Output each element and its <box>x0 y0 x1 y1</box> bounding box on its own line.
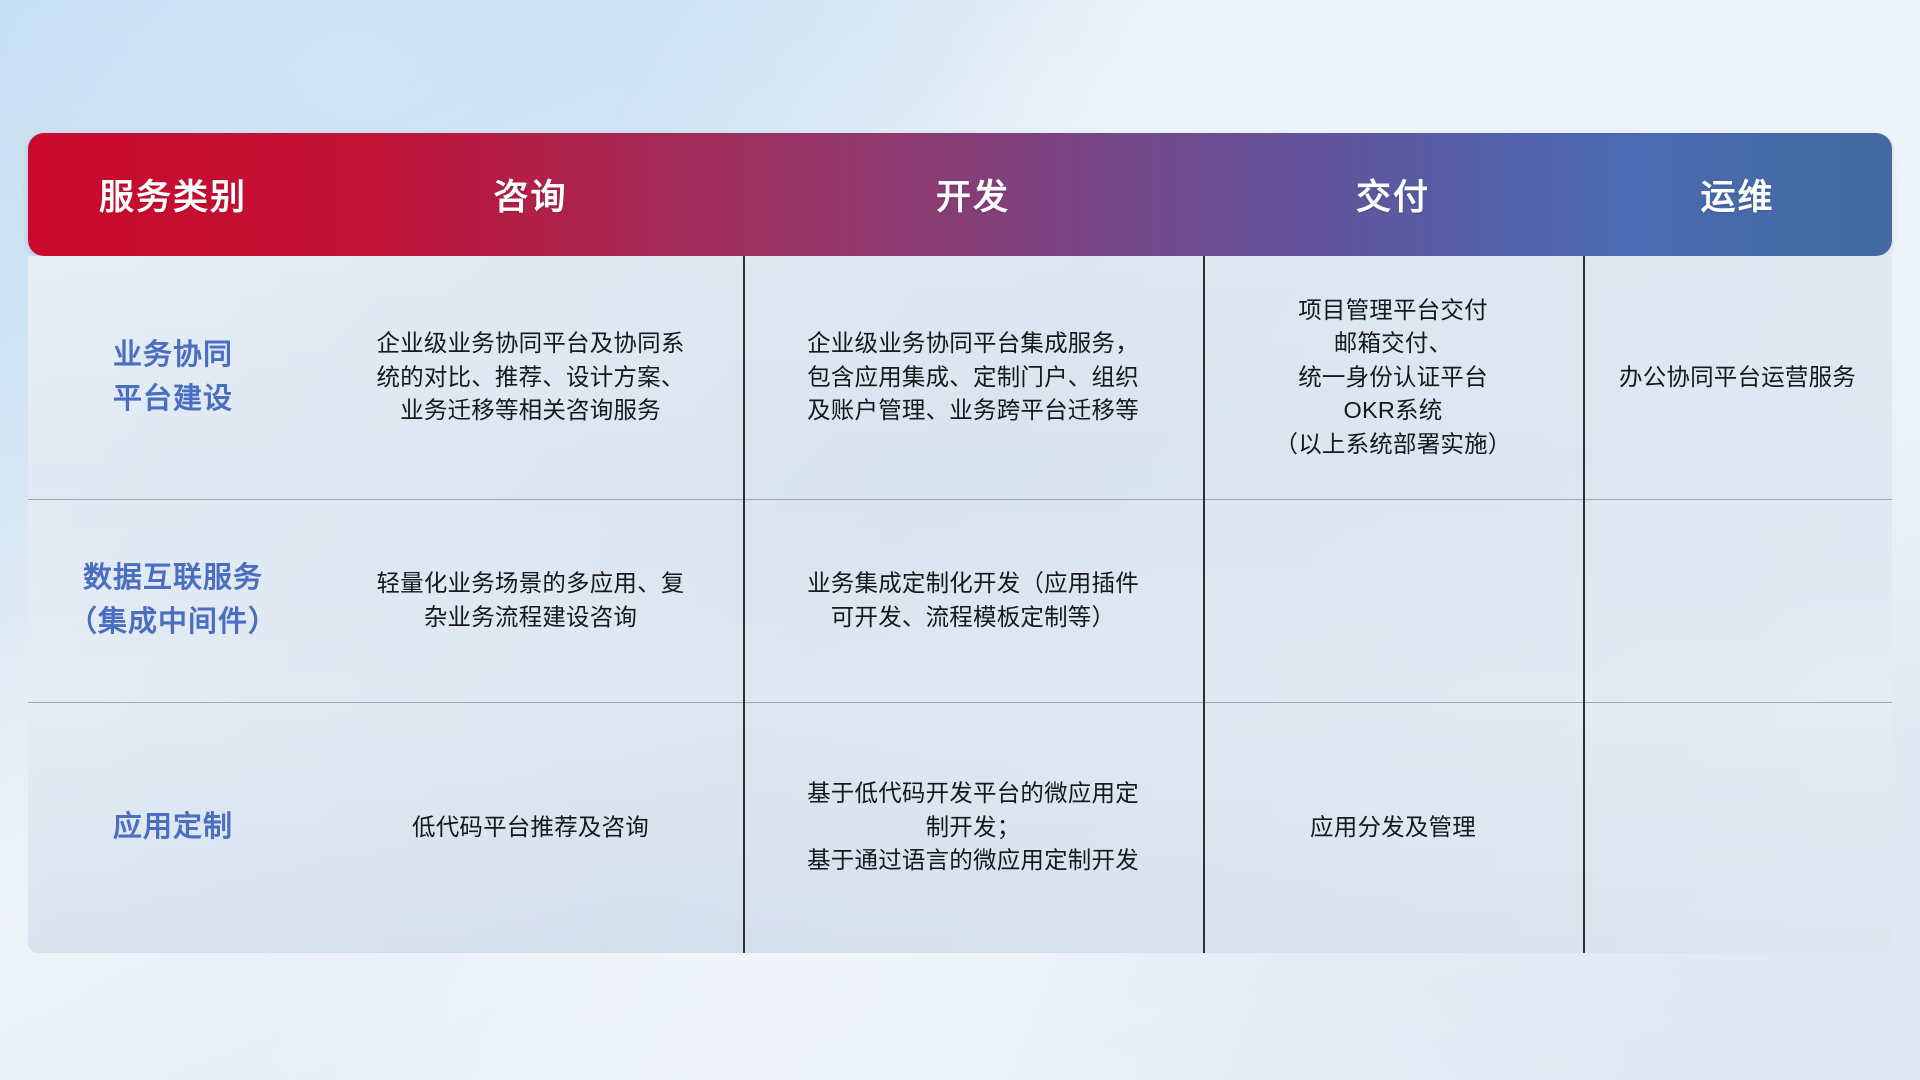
header-delivery: 交付 <box>1203 133 1583 256</box>
header-operations-label: 运维 <box>1700 169 1774 220</box>
table-row: 业务协同 平台建设 企业级业务协同平台及协同系 统的对比、推荐、设计方案、 业务… <box>28 256 1892 499</box>
header-service-category: 服务类别 <box>28 133 318 256</box>
row-category-label: 数据互联服务 （集成中间件） <box>68 557 278 644</box>
row-development-text: 业务集成定制化开发（应用插件 可开发、流程模板定制等） <box>807 567 1139 634</box>
row-development-cell: 业务集成定制化开发（应用插件 可开发、流程模板定制等） <box>743 499 1203 702</box>
row-consulting-cell: 企业级业务协同平台及协同系 统的对比、推荐、设计方案、 业务迁移等相关咨询服务 <box>318 256 743 499</box>
header-operations: 运维 <box>1583 133 1892 256</box>
header-development: 开发 <box>743 133 1203 256</box>
row-delivery-cell: 项目管理平台交付 邮箱交付、 统一身份认证平台 OKR系统 （以上系统部署实施） <box>1203 256 1583 499</box>
row-delivery-cell <box>1203 499 1583 702</box>
row-category-label: 应用定制 <box>113 806 233 850</box>
table-body: 业务协同 平台建设 企业级业务协同平台及协同系 统的对比、推荐、设计方案、 业务… <box>28 256 1892 953</box>
row-consulting-cell: 低代码平台推荐及咨询 <box>318 702 743 953</box>
table-header-row: 服务类别 咨询 开发 交付 运维 <box>28 133 1892 256</box>
row-development-text: 基于低代码开发平台的微应用定 制开发； 基于通过语言的微应用定制开发 <box>807 777 1139 877</box>
table-row: 数据互联服务 （集成中间件） 轻量化业务场景的多应用、复 杂业务流程建设咨询 业… <box>28 499 1892 702</box>
row-operations-cell <box>1583 499 1892 702</box>
row-consulting-text: 企业级业务协同平台及协同系 统的对比、推荐、设计方案、 业务迁移等相关咨询服务 <box>376 327 684 427</box>
row-development-cell: 企业级业务协同平台集成服务， 包含应用集成、定制门户、组织 及账户管理、业务跨平… <box>743 256 1203 499</box>
table-row: 应用定制 低代码平台推荐及咨询 基于低代码开发平台的微应用定 制开发； 基于通过… <box>28 702 1892 953</box>
slide-background: 服务类别 咨询 开发 交付 运维 业务协同 平台建设 <box>0 0 1920 1080</box>
row-category-cell: 应用定制 <box>28 702 318 953</box>
row-development-text: 企业级业务协同平台集成服务， 包含应用集成、定制门户、组织 及账户管理、业务跨平… <box>807 327 1139 427</box>
row-category-cell: 数据互联服务 （集成中间件） <box>28 499 318 702</box>
row-operations-cell <box>1583 702 1892 953</box>
header-service-category-label: 服务类别 <box>99 169 247 220</box>
header-development-label: 开发 <box>936 169 1010 220</box>
header-consulting: 咨询 <box>318 133 743 256</box>
row-operations-cell: 办公协同平台运营服务 <box>1583 256 1892 499</box>
row-consulting-text: 轻量化业务场景的多应用、复 杂业务流程建设咨询 <box>376 567 684 634</box>
row-consulting-text: 低代码平台推荐及咨询 <box>412 811 649 844</box>
row-delivery-text: 项目管理平台交付 邮箱交付、 统一身份认证平台 OKR系统 （以上系统部署实施） <box>1275 294 1512 461</box>
header-consulting-label: 咨询 <box>493 169 567 220</box>
row-operations-text: 办公协同平台运营服务 <box>1619 361 1856 394</box>
header-delivery-label: 交付 <box>1356 169 1430 220</box>
row-category-cell: 业务协同 平台建设 <box>28 256 318 499</box>
row-consulting-cell: 轻量化业务场景的多应用、复 杂业务流程建设咨询 <box>318 499 743 702</box>
row-development-cell: 基于低代码开发平台的微应用定 制开发； 基于通过语言的微应用定制开发 <box>743 702 1203 953</box>
row-delivery-text: 应用分发及管理 <box>1310 811 1476 844</box>
row-category-label: 业务协同 平台建设 <box>113 334 233 421</box>
row-delivery-cell: 应用分发及管理 <box>1203 702 1583 953</box>
service-matrix-table: 服务类别 咨询 开发 交付 运维 业务协同 平台建设 <box>28 133 1892 953</box>
